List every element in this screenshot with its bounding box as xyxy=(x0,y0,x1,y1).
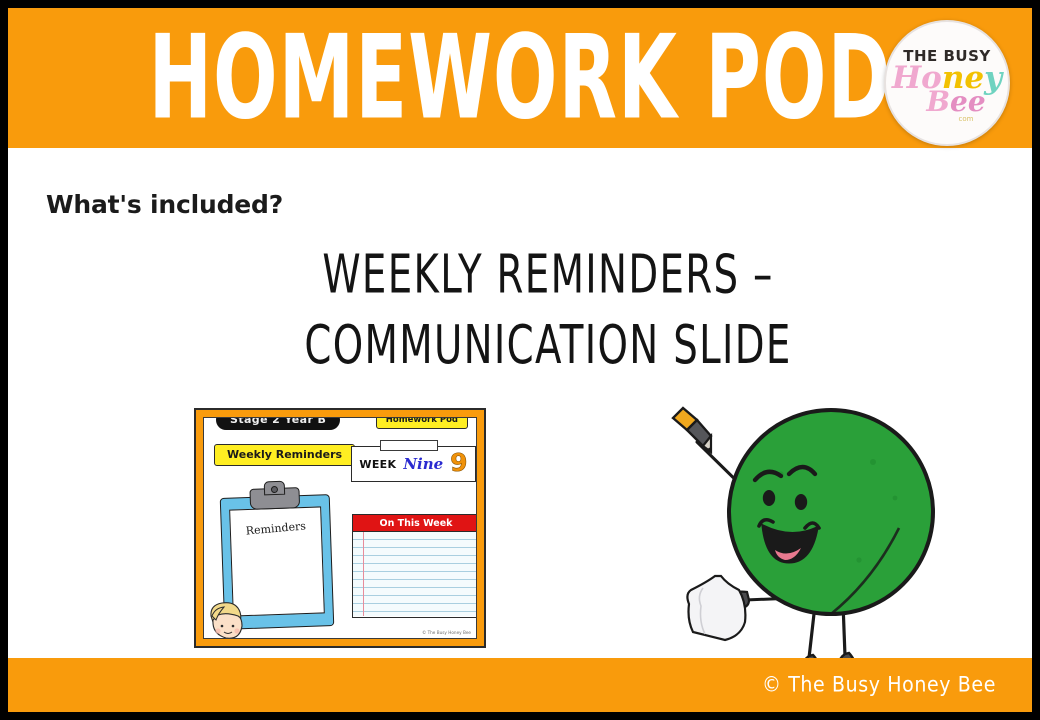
stage-pill-badge: Stage 2 Year B xyxy=(216,417,340,430)
slide-preview-thumbnail[interactable]: Stage 2 Year B Homework Pod Weekly Remin… xyxy=(194,408,486,648)
pencil-icon xyxy=(673,408,711,452)
week-banner-tag xyxy=(380,440,438,451)
header-banner: HOMEWORK POD xyxy=(8,8,1032,148)
logo-bee-text: Bee xyxy=(926,89,985,114)
on-this-week-lined-area xyxy=(353,532,477,616)
on-this-week-table: On This Week xyxy=(352,514,477,618)
weekly-reminders-label: Weekly Reminders xyxy=(214,444,355,466)
week-word: Nine xyxy=(403,455,443,473)
brand-logo-badge: THE BUSY Honey Bee com xyxy=(884,20,1010,146)
page-title: HOMEWORK POD xyxy=(148,20,891,136)
logo-sub-text: com xyxy=(959,115,974,123)
preview-inner-canvas: Stage 2 Year B Homework Pod Weekly Remin… xyxy=(203,417,477,639)
on-this-week-header: On This Week xyxy=(353,515,477,532)
whats-included-label: What's included? xyxy=(46,190,283,219)
week-number: 9 xyxy=(450,453,467,473)
notebook-margin-line xyxy=(363,532,364,616)
clipboard-clip-icon xyxy=(249,487,300,510)
week-label: WEEK xyxy=(359,458,396,471)
child-illustration xyxy=(206,598,250,639)
green-pea-mascot xyxy=(663,400,943,678)
heading-line-2: COMMUNICATION SLIDE xyxy=(266,311,829,382)
homework-pod-tab: Homework Pod xyxy=(376,417,468,429)
footer-banner: © The Busy Honey Bee xyxy=(8,658,1032,712)
footer-credit-text: © The Busy Honey Bee xyxy=(762,673,996,698)
paper-icon xyxy=(687,576,745,640)
preview-credit-text: © The Busy Honey Bee xyxy=(422,630,471,635)
main-heading: WEEKLY REMINDERS – COMMUNICATION SLIDE xyxy=(266,240,829,382)
heading-line-1: WEEKLY REMINDERS – xyxy=(266,240,829,311)
week-banner: WEEK Nine 9 xyxy=(351,446,476,482)
slide-canvas: HOMEWORK POD THE BUSY Honey Bee com What… xyxy=(0,0,1040,720)
